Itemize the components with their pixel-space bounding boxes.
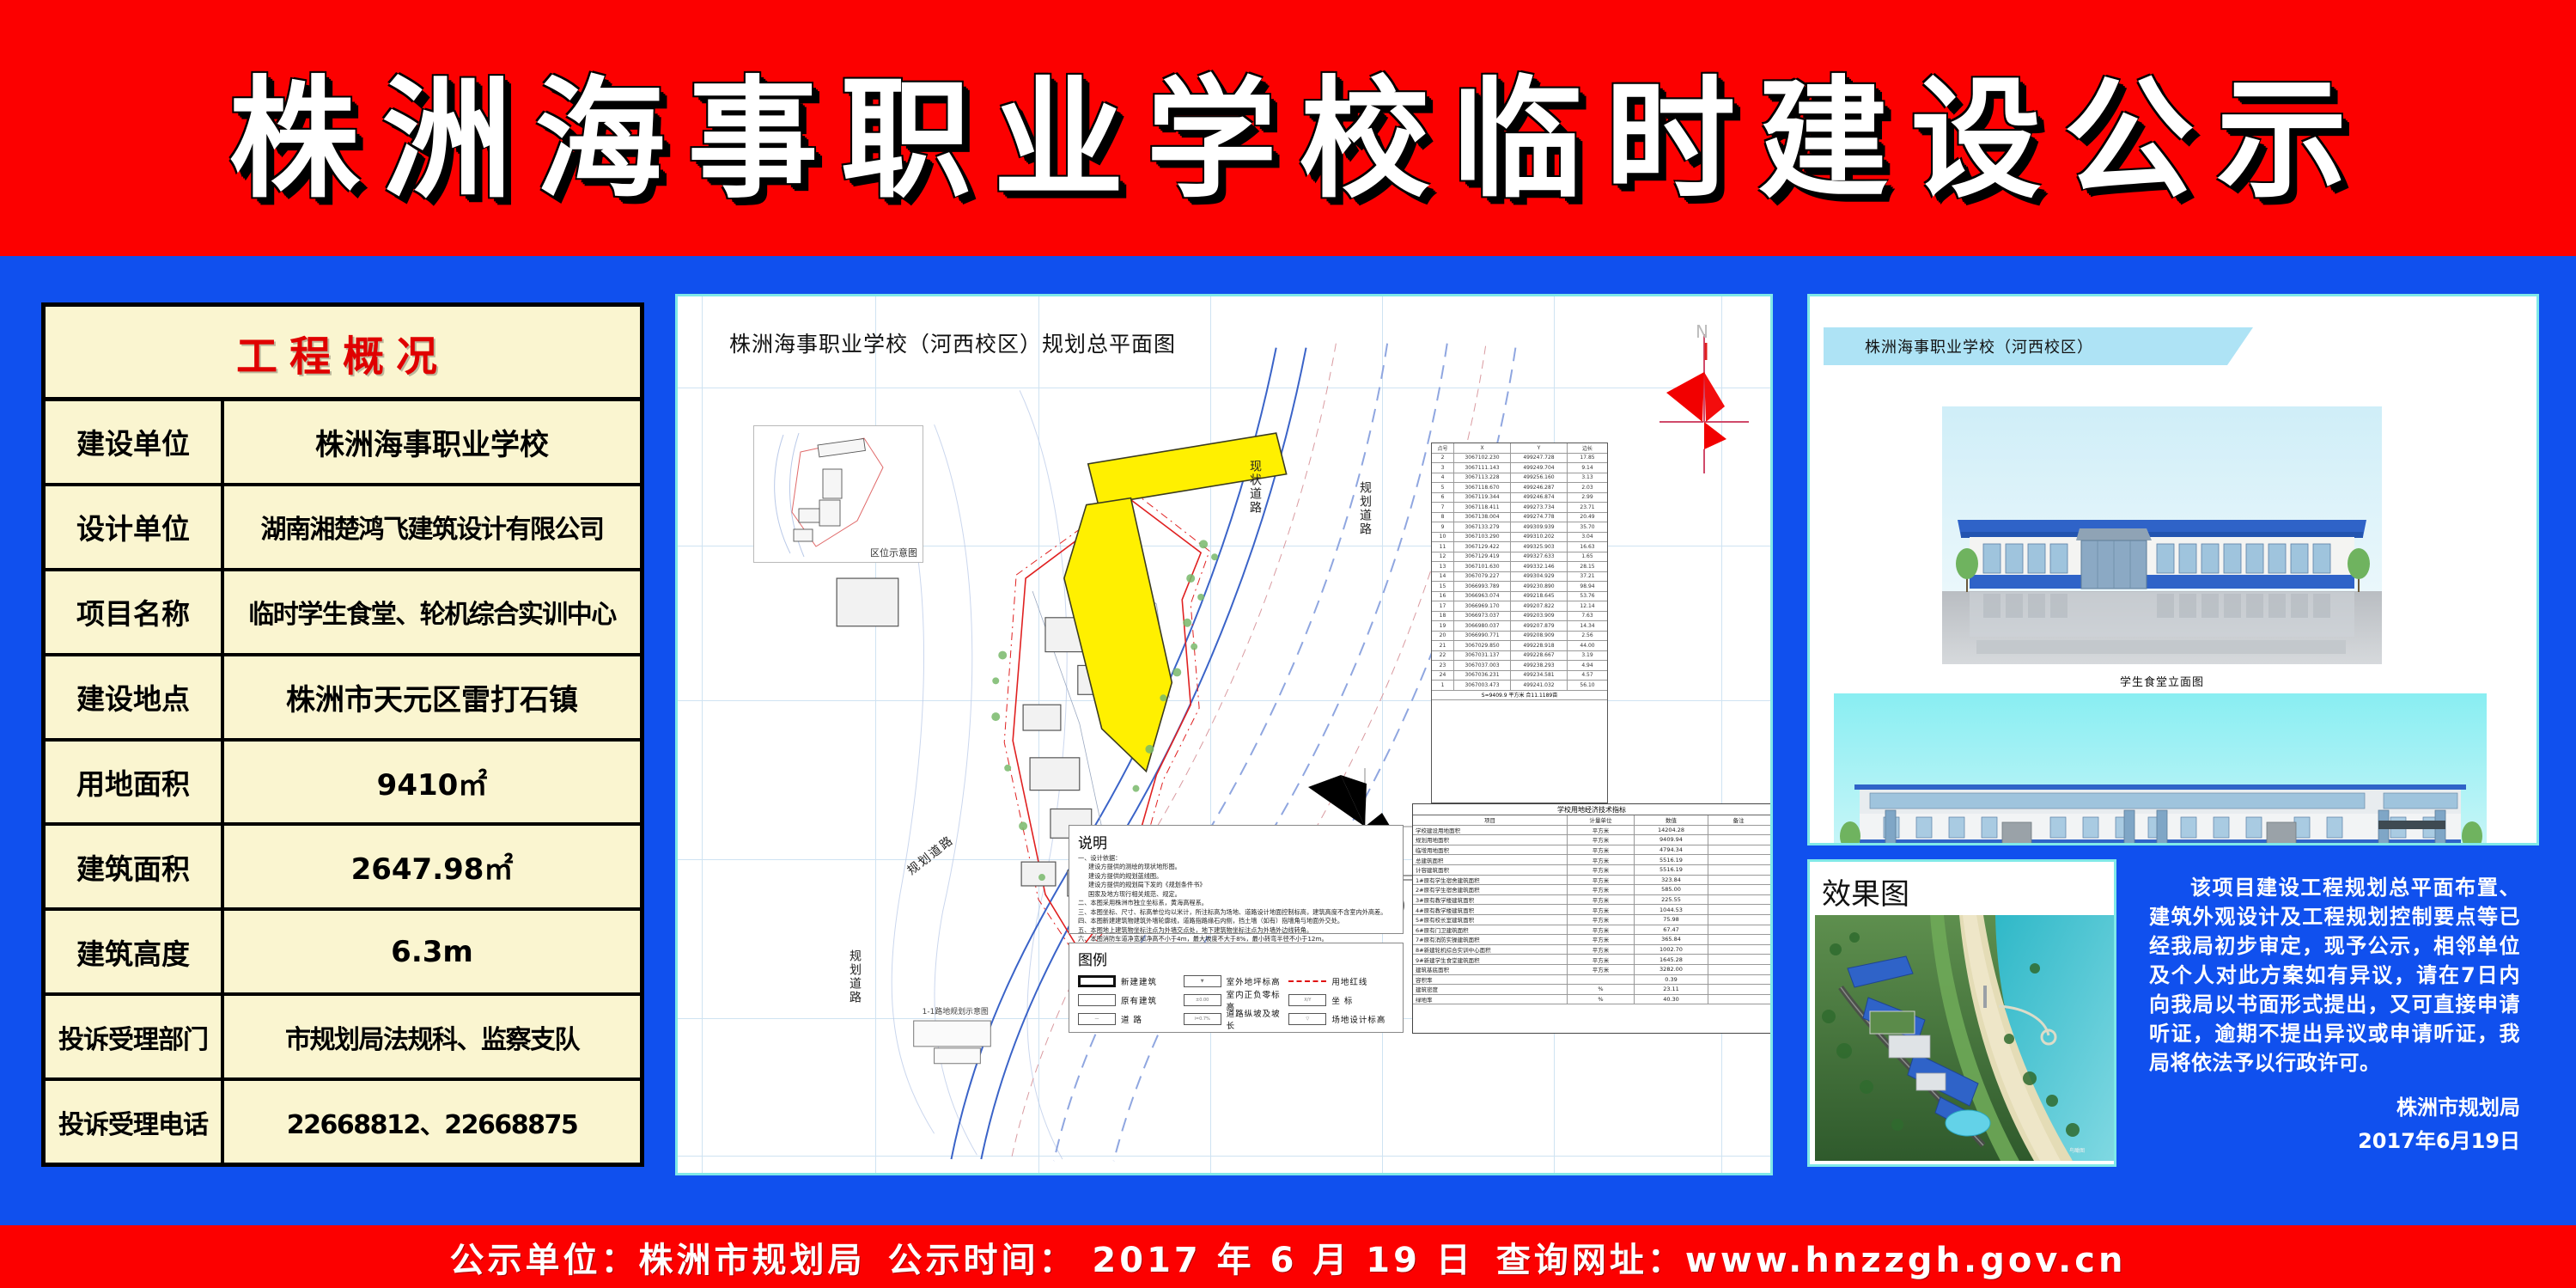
coordinate-cell: 3067129.422	[1454, 542, 1511, 552]
legend-item: ▽场地设计标高	[1288, 1013, 1394, 1025]
legend-item: 用地红线	[1288, 975, 1394, 987]
econ-cell: 23.11	[1635, 985, 1708, 994]
coordinate-row: 183066973.037499203.9097.63	[1432, 612, 1607, 622]
econ-cell: 平方米	[1568, 925, 1635, 935]
coordinate-cell: 17	[1432, 601, 1454, 611]
row-label: 投诉受理电话	[46, 1081, 224, 1163]
coordinate-cell: 7	[1432, 503, 1454, 512]
coordinate-row: 73067118.411499273.73423.71	[1432, 503, 1607, 513]
legend-item: 原有建筑	[1078, 994, 1184, 1006]
econ-cell: 40.30	[1635, 995, 1708, 1004]
coordinate-cell: 499207.879	[1511, 621, 1568, 631]
coordinate-cell: 499228.918	[1511, 641, 1568, 650]
row-value: 9410㎡	[224, 742, 640, 823]
econ-cell	[1708, 915, 1769, 925]
econ-row: 9#新建学生食堂建筑面积平方米1645.28	[1413, 955, 1770, 965]
legend-row: —道 路 i=0.7%道路纵坡及坡长 ▽场地设计标高	[1078, 1010, 1394, 1029]
coordinate-cell: 37.21	[1568, 572, 1607, 582]
econ-cell: 6#原有门卫建筑面积	[1413, 925, 1568, 935]
coordinate-row: 213067029.850499228.91844.00	[1432, 641, 1607, 651]
road-label-planned: 规划道路	[1356, 481, 1373, 536]
econ-cell: 平方米	[1568, 876, 1635, 885]
econ-row: 建筑密度%23.11	[1413, 985, 1770, 995]
coordinate-row: 153066993.789499230.89098.94	[1432, 582, 1607, 592]
outdoor-elevation-swatch-icon: ▼	[1184, 975, 1221, 987]
coordinate-cell: 10	[1432, 533, 1454, 542]
project-overview-table: 工程概况 建设单位 株洲海事职业学校 设计单位 湖南湘楚鸿飞建筑设计有限公司 项…	[41, 302, 644, 1167]
econ-row: 规划用地面积平方米9409.94	[1413, 835, 1770, 845]
legend-heading: 图例	[1078, 948, 1394, 969]
econ-cell: 平方米	[1568, 935, 1635, 944]
econ-cell: 9#新建学生食堂建筑面积	[1413, 955, 1568, 964]
overview-heading: 工程概况	[236, 322, 449, 382]
econ-cell	[1708, 845, 1769, 855]
econ-cell	[1708, 835, 1769, 845]
coordinate-cell: 3067103.290	[1454, 533, 1511, 542]
coordinate-cell: 3.19	[1568, 651, 1607, 661]
econ-cell: 4#原有教学楼建筑面积	[1413, 905, 1568, 914]
coordinate-cell: 499325.903	[1511, 542, 1568, 552]
coordinate-cell: 3067079.227	[1454, 572, 1511, 582]
coordinate-cell: 12	[1432, 552, 1454, 562]
coordinate-cell: 499246.287	[1511, 483, 1568, 492]
coordinate-row: 103067103.290499310.2023.04	[1432, 533, 1607, 543]
coordinate-cell: 499332.146	[1511, 562, 1568, 571]
econ-cell: 平方米	[1568, 885, 1635, 894]
coordinate-cell: 3066990.771	[1454, 632, 1511, 641]
econ-row: 7#原有消防实操建筑面积平方米365.84	[1413, 935, 1770, 945]
row-label: 建筑面积	[46, 826, 224, 907]
econ-cell: 平方米	[1568, 915, 1635, 925]
econ-cell: 平方米	[1568, 826, 1635, 835]
coordinate-cell: 4.94	[1568, 661, 1607, 670]
footer-publisher: 公示单位：株洲市规划局	[449, 1241, 865, 1280]
coordinate-cell: 6	[1432, 493, 1454, 503]
econ-row: 计容建筑面积平方米5516.19	[1413, 865, 1770, 876]
coordinate-cell: 499246.874	[1511, 493, 1568, 503]
econ-cell: %	[1568, 995, 1635, 1004]
coordinate-cell: 56.10	[1568, 681, 1607, 690]
coordinate-row: 223067031.137499228.6673.19	[1432, 651, 1607, 662]
coordinate-row: 133067101.630499332.14628.15	[1432, 562, 1607, 572]
coordinate-cell: 499247.728	[1511, 454, 1568, 463]
coordinate-cell: 499256.160	[1511, 473, 1568, 483]
econ-row: 3#原有教学楼建筑面积平方米225.55	[1413, 895, 1770, 906]
notes-line: 建设方提供的规划局下发的《规划条件书》	[1078, 881, 1394, 889]
coordinate-cell: 20	[1432, 632, 1454, 641]
notes-line: 建设方提供的测绘的现状地形图。	[1078, 863, 1394, 871]
coordinate-cell: 499309.939	[1511, 522, 1568, 532]
econ-cell: 67.47	[1635, 925, 1708, 935]
coordinate-cell: 4.57	[1568, 671, 1607, 681]
canteen-elevation-image	[1942, 406, 2382, 664]
road-swatch-icon: —	[1078, 1013, 1116, 1025]
econ-row: 绿地率%40.30	[1413, 995, 1770, 1005]
coordinate-cell: 9	[1432, 522, 1454, 532]
new-building-swatch-icon	[1078, 975, 1116, 987]
legend-item: X/Y坐 标	[1288, 994, 1394, 1006]
footer-content: 公示单位：株洲市规划局公示时间： 2017 年 6 月 19 日查询网址：www…	[449, 1232, 2126, 1282]
coordinate-cell: 15	[1432, 582, 1454, 591]
econ-cell: 9409.94	[1635, 835, 1708, 845]
econ-cell: 1002.70	[1635, 945, 1708, 955]
table-row: 建设地点 株洲市天元区雷打石镇	[46, 656, 640, 742]
econ-cell: 585.00	[1635, 885, 1708, 894]
econ-cell	[1708, 965, 1769, 974]
existing-building-swatch-icon	[1078, 994, 1116, 1006]
econ-cell	[1568, 975, 1635, 985]
econ-cell: 平方米	[1568, 865, 1635, 875]
coordinate-cell: 499238.293	[1511, 661, 1568, 670]
coordinate-cell: 3067102.230	[1454, 454, 1511, 463]
row-value: 株洲市天元区雷打石镇	[224, 656, 640, 738]
econ-cell: 365.84	[1635, 935, 1708, 944]
coordinate-cell: 12.14	[1568, 601, 1607, 611]
econ-cell: 计容建筑面积	[1413, 865, 1568, 875]
coordinate-cell: 2.03	[1568, 483, 1607, 492]
notice-signature: 株洲市规划局	[2149, 1090, 2520, 1120]
coordinate-cell: 499327.633	[1511, 552, 1568, 562]
coordinate-cell: 3.04	[1568, 533, 1607, 542]
title-banner: 株洲海事职业学校临时建设公示	[0, 0, 2576, 256]
econ-row: 总建筑面积平方米5516.19	[1413, 855, 1770, 865]
legend-item: ▼室外地坪标高	[1184, 975, 1289, 987]
econ-cell	[1708, 985, 1769, 994]
econ-cell: 5516.19	[1635, 865, 1708, 875]
econ-row: 5#原有校长室建筑面积平方米75.98	[1413, 915, 1770, 925]
coordinate-row: 233067037.003499238.2934.94	[1432, 661, 1607, 671]
econ-row: 8#新建轮机综合实训中心面积平方米1002.70	[1413, 945, 1770, 955]
design-elevation-swatch-icon: ▽	[1288, 1013, 1326, 1025]
econ-cell: 2#原有学生宿舍建筑面积	[1413, 885, 1568, 894]
legend-item: —道 路	[1078, 1013, 1184, 1025]
inset-drawing	[754, 426, 924, 564]
econ-cell: 平方米	[1568, 945, 1635, 955]
coordinate-cell: 499218.645	[1511, 592, 1568, 601]
coordinate-cell: 5	[1432, 483, 1454, 492]
coordinate-cell: 3067029.850	[1454, 641, 1511, 650]
table-row: 投诉受理部门 市规划局法规科、监察支队	[46, 996, 640, 1081]
coordinate-cell: 28.15	[1568, 562, 1607, 571]
coordinate-cell: 22	[1432, 651, 1454, 661]
table-row: 用地面积 9410㎡	[46, 742, 640, 827]
coordinate-cell: 3067037.003	[1454, 661, 1511, 670]
econ-cell	[1708, 885, 1769, 894]
coordinate-cell: 3066993.789	[1454, 582, 1511, 591]
econ-cell	[1708, 905, 1769, 914]
row-label: 建筑高度	[46, 911, 224, 992]
notes-line: 五、本图地上建筑物坐标注点为外墙交点处，地下建筑物坐标注点为外墙外边线转角。	[1078, 926, 1394, 935]
coordinate-table: 点号 X Y 边长 23067102.230499247.72817.85330…	[1431, 443, 1608, 803]
svg-text:1-1路地规划示意图: 1-1路地规划示意图	[923, 1006, 989, 1016]
coordinate-table-footer: S=9409.9 平方米 合11.1189亩	[1432, 691, 1607, 701]
row-label: 用地面积	[46, 742, 224, 823]
coordinate-cell: 499203.909	[1511, 612, 1568, 621]
coordinate-cell: 499230.890	[1511, 582, 1568, 591]
coordinate-cell: 2	[1432, 454, 1454, 463]
coordinate-cell: 3066973.037	[1454, 612, 1511, 621]
econ-row: 容积率0.39	[1413, 975, 1770, 986]
econ-row: 1#原有学生宿舍建筑面积平方米323.84	[1413, 876, 1770, 886]
coordinate-swatch-icon: X/Y	[1288, 994, 1326, 1006]
coordinate-row: 173066969.170499207.82212.14	[1432, 601, 1607, 612]
econ-cell: 规划用地面积	[1413, 835, 1568, 845]
row-value: 株洲海事职业学校	[224, 401, 640, 483]
coordinate-cell: 3067133.279	[1454, 522, 1511, 532]
econ-cell: 建筑基底面积	[1413, 965, 1568, 974]
econ-cell	[1708, 826, 1769, 835]
table-row: 设计单位 湖南湘楚鸿飞建筑设计有限公司	[46, 486, 640, 571]
north-arrow-icon: N	[1653, 320, 1756, 479]
economic-indicator-table: 学校用地经济技术指标 项目 计量单位 数值 备注 学校建设用地面积平方米1420…	[1412, 803, 1771, 1034]
coordinate-cell: 7.63	[1568, 612, 1607, 621]
coordinate-cell: 3066980.037	[1454, 621, 1511, 631]
coordinate-cell: 3.13	[1568, 473, 1607, 483]
row-label: 投诉受理部门	[46, 996, 224, 1077]
econ-table-header: 项目 计量单位 数值 备注	[1413, 815, 1770, 826]
econ-cell: 平方米	[1568, 845, 1635, 855]
row-value: 22668812、22668875	[224, 1081, 640, 1163]
coordinate-cell: 8	[1432, 513, 1454, 522]
canteen-elevation-caption: 学生食堂立面图	[1942, 673, 2382, 689]
coordinate-cell: 499207.822	[1511, 601, 1568, 611]
coordinate-table-header: 点号 X Y 边长	[1432, 443, 1607, 454]
coordinate-cell: 35.70	[1568, 522, 1607, 532]
row-value: 6.3m	[224, 911, 640, 992]
row-value: 市规划局法规科、监察支队	[224, 996, 640, 1077]
econ-cell	[1708, 995, 1769, 1004]
legend-item: i=0.7%道路纵坡及坡长	[1184, 1007, 1289, 1031]
coordinate-cell: 3067111.143	[1454, 463, 1511, 473]
coordinate-cell: 3066969.170	[1454, 601, 1511, 611]
econ-row: 2#原有学生宿舍建筑面积平方米585.00	[1413, 885, 1770, 895]
coordinate-row: 163066963.074499218.64553.76	[1432, 592, 1607, 602]
coordinate-cell: 2.56	[1568, 632, 1607, 641]
footer-url[interactable]: 查询网址：www.hnzzgh.gov.cn	[1496, 1241, 2127, 1280]
econ-cell: 1#原有学生宿舍建筑面积	[1413, 876, 1568, 885]
footer-time: 公示时间： 2017 年 6 月 19 日	[887, 1241, 1473, 1280]
rendering-label: 效果图	[1822, 870, 1909, 913]
notes-line: 二、本图采用株洲市独立坐标系，黄海高程系。	[1078, 899, 1394, 907]
coordinate-cell: 98.94	[1568, 582, 1607, 591]
econ-cell	[1708, 945, 1769, 955]
coordinate-cell: 21	[1432, 641, 1454, 650]
econ-cell: 7#原有消防实操建筑面积	[1413, 935, 1568, 944]
econ-cell	[1708, 876, 1769, 885]
econ-cell: 学校建设用地面积	[1413, 826, 1568, 835]
coordinate-cell: 44.00	[1568, 641, 1607, 650]
econ-cell: 1044.53	[1635, 905, 1708, 914]
econ-row: 学校建设用地面积平方米14204.28	[1413, 826, 1770, 836]
coordinate-cell: 3067118.411	[1454, 503, 1511, 512]
notes-line: 四、本图新建建筑物建筑外墙轮廓线，道路指路缘石内侧，挡土墙（如有）指墙角与地面外…	[1078, 917, 1394, 925]
notice-body-text: 该项目建设工程规划总平面布置、建筑外观设计及工程规划控制要点等已经我局初步审定，…	[2149, 873, 2520, 1078]
econ-cell: 平方米	[1568, 855, 1635, 864]
coordinate-row: 43067113.228499256.1603.13	[1432, 473, 1607, 484]
notes-line: 建设方提供的规划蓝线图。	[1078, 872, 1394, 881]
elevation-banner-title: 株洲海事职业学校（河西校区）	[1824, 327, 2253, 365]
econ-cell	[1708, 895, 1769, 905]
coordinate-cell: 499249.704	[1511, 463, 1568, 473]
overview-heading-row: 工程概况	[46, 307, 640, 401]
coordinate-cell: 499234.581	[1511, 671, 1568, 681]
econ-cell: %	[1568, 985, 1635, 994]
coordinate-cell: 19	[1432, 621, 1454, 631]
coordinate-cell: 3067119.344	[1454, 493, 1511, 503]
econ-cell: 平方米	[1568, 955, 1635, 964]
row-label: 设计单位	[46, 486, 224, 568]
coordinate-row: 63067119.344499246.8742.99	[1432, 493, 1607, 504]
econ-table-title: 学校用地经济技术指标	[1413, 804, 1770, 815]
econ-row: 6#原有门卫建筑面积平方米67.47	[1413, 925, 1770, 936]
table-row: 项目名称 临时学生食堂、轮机综合实训中心	[46, 571, 640, 656]
row-label: 项目名称	[46, 571, 224, 653]
row-label: 建设地点	[46, 656, 224, 738]
coordinate-cell: 499274.778	[1511, 513, 1568, 522]
coordinate-cell: 3067031.137	[1454, 651, 1511, 661]
econ-cell: 323.84	[1635, 876, 1708, 885]
table-row: 建设单位 株洲海事职业学校	[46, 401, 640, 486]
econ-cell: 5#原有校长室建筑面积	[1413, 915, 1568, 925]
econ-row: 建筑基底面积平方米3282.00	[1413, 965, 1770, 975]
row-label: 建设单位	[46, 401, 224, 483]
econ-cell	[1708, 935, 1769, 944]
site-plan-panel: 株洲海事职业学校（河西校区）规划总平面图	[675, 294, 1773, 1175]
coordinate-row: 33067111.143499249.7049.14	[1432, 463, 1607, 473]
location-inset-map: 区位示意图	[753, 425, 923, 563]
notes-heading: 说明	[1078, 831, 1394, 852]
econ-cell	[1708, 855, 1769, 864]
coordinate-cell: 14.34	[1568, 621, 1607, 631]
coordinate-cell: 499273.734	[1511, 503, 1568, 512]
rendering-panel: 效果图	[1807, 859, 2116, 1167]
svg-text:鸟瞰图: 鸟瞰图	[2069, 1147, 2085, 1154]
econ-cell: 建筑密度	[1413, 985, 1568, 994]
coordinate-row: 13067003.473499241.03256.10	[1432, 681, 1607, 691]
coordinate-cell: 3067113.228	[1454, 473, 1511, 483]
page-title: 株洲海事职业学校临时建设公示	[207, 34, 2370, 223]
econ-row: 临增用地面积平方米4794.34	[1413, 845, 1770, 856]
econ-row: 4#原有教学楼建筑面积平方米1044.53	[1413, 905, 1770, 915]
svg-text:N: N	[1696, 321, 1708, 342]
coordinate-row: 143067079.227499304.92937.21	[1432, 572, 1607, 583]
training-center-elevation-image	[1834, 693, 2487, 845]
coordinate-cell: 499241.032	[1511, 681, 1568, 690]
indoor-zero-elevation-swatch-icon: ±0.00	[1184, 994, 1221, 1006]
coordinate-cell: 9.14	[1568, 463, 1607, 473]
row-value: 湖南湘楚鸿飞建筑设计有限公司	[224, 486, 640, 568]
econ-cell: 5516.19	[1635, 855, 1708, 864]
road-slope-swatch-icon: i=0.7%	[1184, 1013, 1221, 1025]
coordinate-cell: 499310.202	[1511, 533, 1568, 542]
coordinate-cell: 11	[1432, 542, 1454, 552]
coordinate-row: 193066980.037499207.87914.34	[1432, 621, 1607, 632]
coordinate-cell: 20.49	[1568, 513, 1607, 522]
econ-cell: 8#新建轮机综合实训中心面积	[1413, 945, 1568, 955]
legend-item: 新建建筑	[1078, 975, 1184, 987]
coordinate-cell: 3	[1432, 463, 1454, 473]
econ-cell: 1645.28	[1635, 955, 1708, 964]
coordinate-cell: 499208.909	[1511, 632, 1568, 641]
aerial-rendering-image: 鸟瞰图	[1815, 915, 2114, 1161]
coordinate-row: 83067138.004499274.77820.49	[1432, 513, 1607, 523]
coordinate-row: 23067102.230499247.72817.85	[1432, 454, 1607, 464]
econ-cell: 容积率	[1413, 975, 1568, 985]
coordinate-cell: 53.76	[1568, 592, 1607, 601]
coordinate-row: 53067118.670499246.2872.03	[1432, 483, 1607, 493]
public-notice-panel: 该项目建设工程规划总平面布置、建筑外观设计及工程规划控制要点等已经我局初步审定，…	[2130, 859, 2539, 1167]
notice-date: 2017年6月19日	[2149, 1124, 2520, 1154]
econ-cell	[1708, 925, 1769, 935]
coordinate-cell: 23	[1432, 661, 1454, 670]
road-label-existing: 现状道路	[1246, 460, 1264, 515]
econ-cell: 平方米	[1568, 835, 1635, 845]
elevation-drawings-panel: 株洲海事职业学校（河西校区）	[1807, 294, 2539, 845]
notes-box: 说明 一、设计依据： 建设方提供的测绘的现状地形图。 建设方提供的规划蓝线图。 …	[1069, 825, 1404, 934]
coordinate-row: 123067129.419499327.6331.65	[1432, 552, 1607, 563]
coordinate-cell: 1	[1432, 681, 1454, 690]
econ-cell: 3282.00	[1635, 965, 1708, 974]
econ-cell: 3#原有教学楼建筑面积	[1413, 895, 1568, 905]
coordinate-cell: 4	[1432, 473, 1454, 483]
econ-cell	[1708, 955, 1769, 964]
coordinate-cell: 17.85	[1568, 454, 1607, 463]
road-label-planned-3: 规划道路	[846, 949, 863, 1004]
inset-caption: 区位示意图	[870, 546, 917, 559]
map-legend: 图例 新建建筑 ▼室外地坪标高 用地红线 原有建筑 ±0.00室内正负零标高 X…	[1069, 943, 1404, 1033]
coordinate-cell: 16.63	[1568, 542, 1607, 552]
notes-line: 国家及地方现行相关规范、规定。	[1078, 890, 1394, 899]
coordinate-cell: 2.99	[1568, 493, 1607, 503]
coordinate-cell: 1.65	[1568, 552, 1607, 562]
coordinate-cell: 3067138.004	[1454, 513, 1511, 522]
coordinate-cell: 3067101.630	[1454, 562, 1511, 571]
econ-cell: 总建筑面积	[1413, 855, 1568, 864]
coordinate-cell: 3066963.074	[1454, 592, 1511, 601]
coordinate-cell: 3067118.670	[1454, 483, 1511, 492]
coordinate-row: 203066990.771499208.9092.56	[1432, 632, 1607, 642]
red-line-swatch-icon	[1288, 980, 1326, 982]
econ-cell: 平方米	[1568, 965, 1635, 974]
coordinate-cell: 3067129.419	[1454, 552, 1511, 562]
econ-cell: 绿地率	[1413, 995, 1568, 1004]
econ-cell	[1708, 975, 1769, 985]
econ-cell: 0.39	[1635, 975, 1708, 985]
coordinate-cell: 16	[1432, 592, 1454, 601]
coordinate-cell: 499304.929	[1511, 572, 1568, 582]
coordinate-row: 243067036.231499234.5814.57	[1432, 671, 1607, 681]
coordinate-cell: 24	[1432, 671, 1454, 681]
row-value: 临时学生食堂、轮机综合实训中心	[224, 571, 640, 653]
coordinate-cell: 23.71	[1568, 503, 1607, 512]
econ-cell	[1708, 865, 1769, 875]
econ-cell: 临增用地面积	[1413, 845, 1568, 855]
coordinate-cell: 3067003.473	[1454, 681, 1511, 690]
econ-cell: 14204.28	[1635, 826, 1708, 835]
row-value: 2647.98㎡	[224, 826, 640, 907]
coordinate-cell: 13	[1432, 562, 1454, 571]
coordinate-row: 93067133.279499309.93935.70	[1432, 522, 1607, 533]
coordinate-row: 113067129.422499325.90316.63	[1432, 542, 1607, 552]
coordinate-cell: 3067036.231	[1454, 671, 1511, 681]
table-row: 建筑面积 2647.98㎡	[46, 826, 640, 911]
table-row: 投诉受理电话 22668812、22668875	[46, 1081, 640, 1163]
footer-banner: 公示单位：株洲市规划局公示时间： 2017 年 6 月 19 日查询网址：www…	[0, 1225, 2576, 1288]
econ-cell: 平方米	[1568, 905, 1635, 914]
coordinate-cell: 18	[1432, 612, 1454, 621]
econ-cell: 4794.34	[1635, 845, 1708, 855]
econ-cell: 平方米	[1568, 895, 1635, 905]
